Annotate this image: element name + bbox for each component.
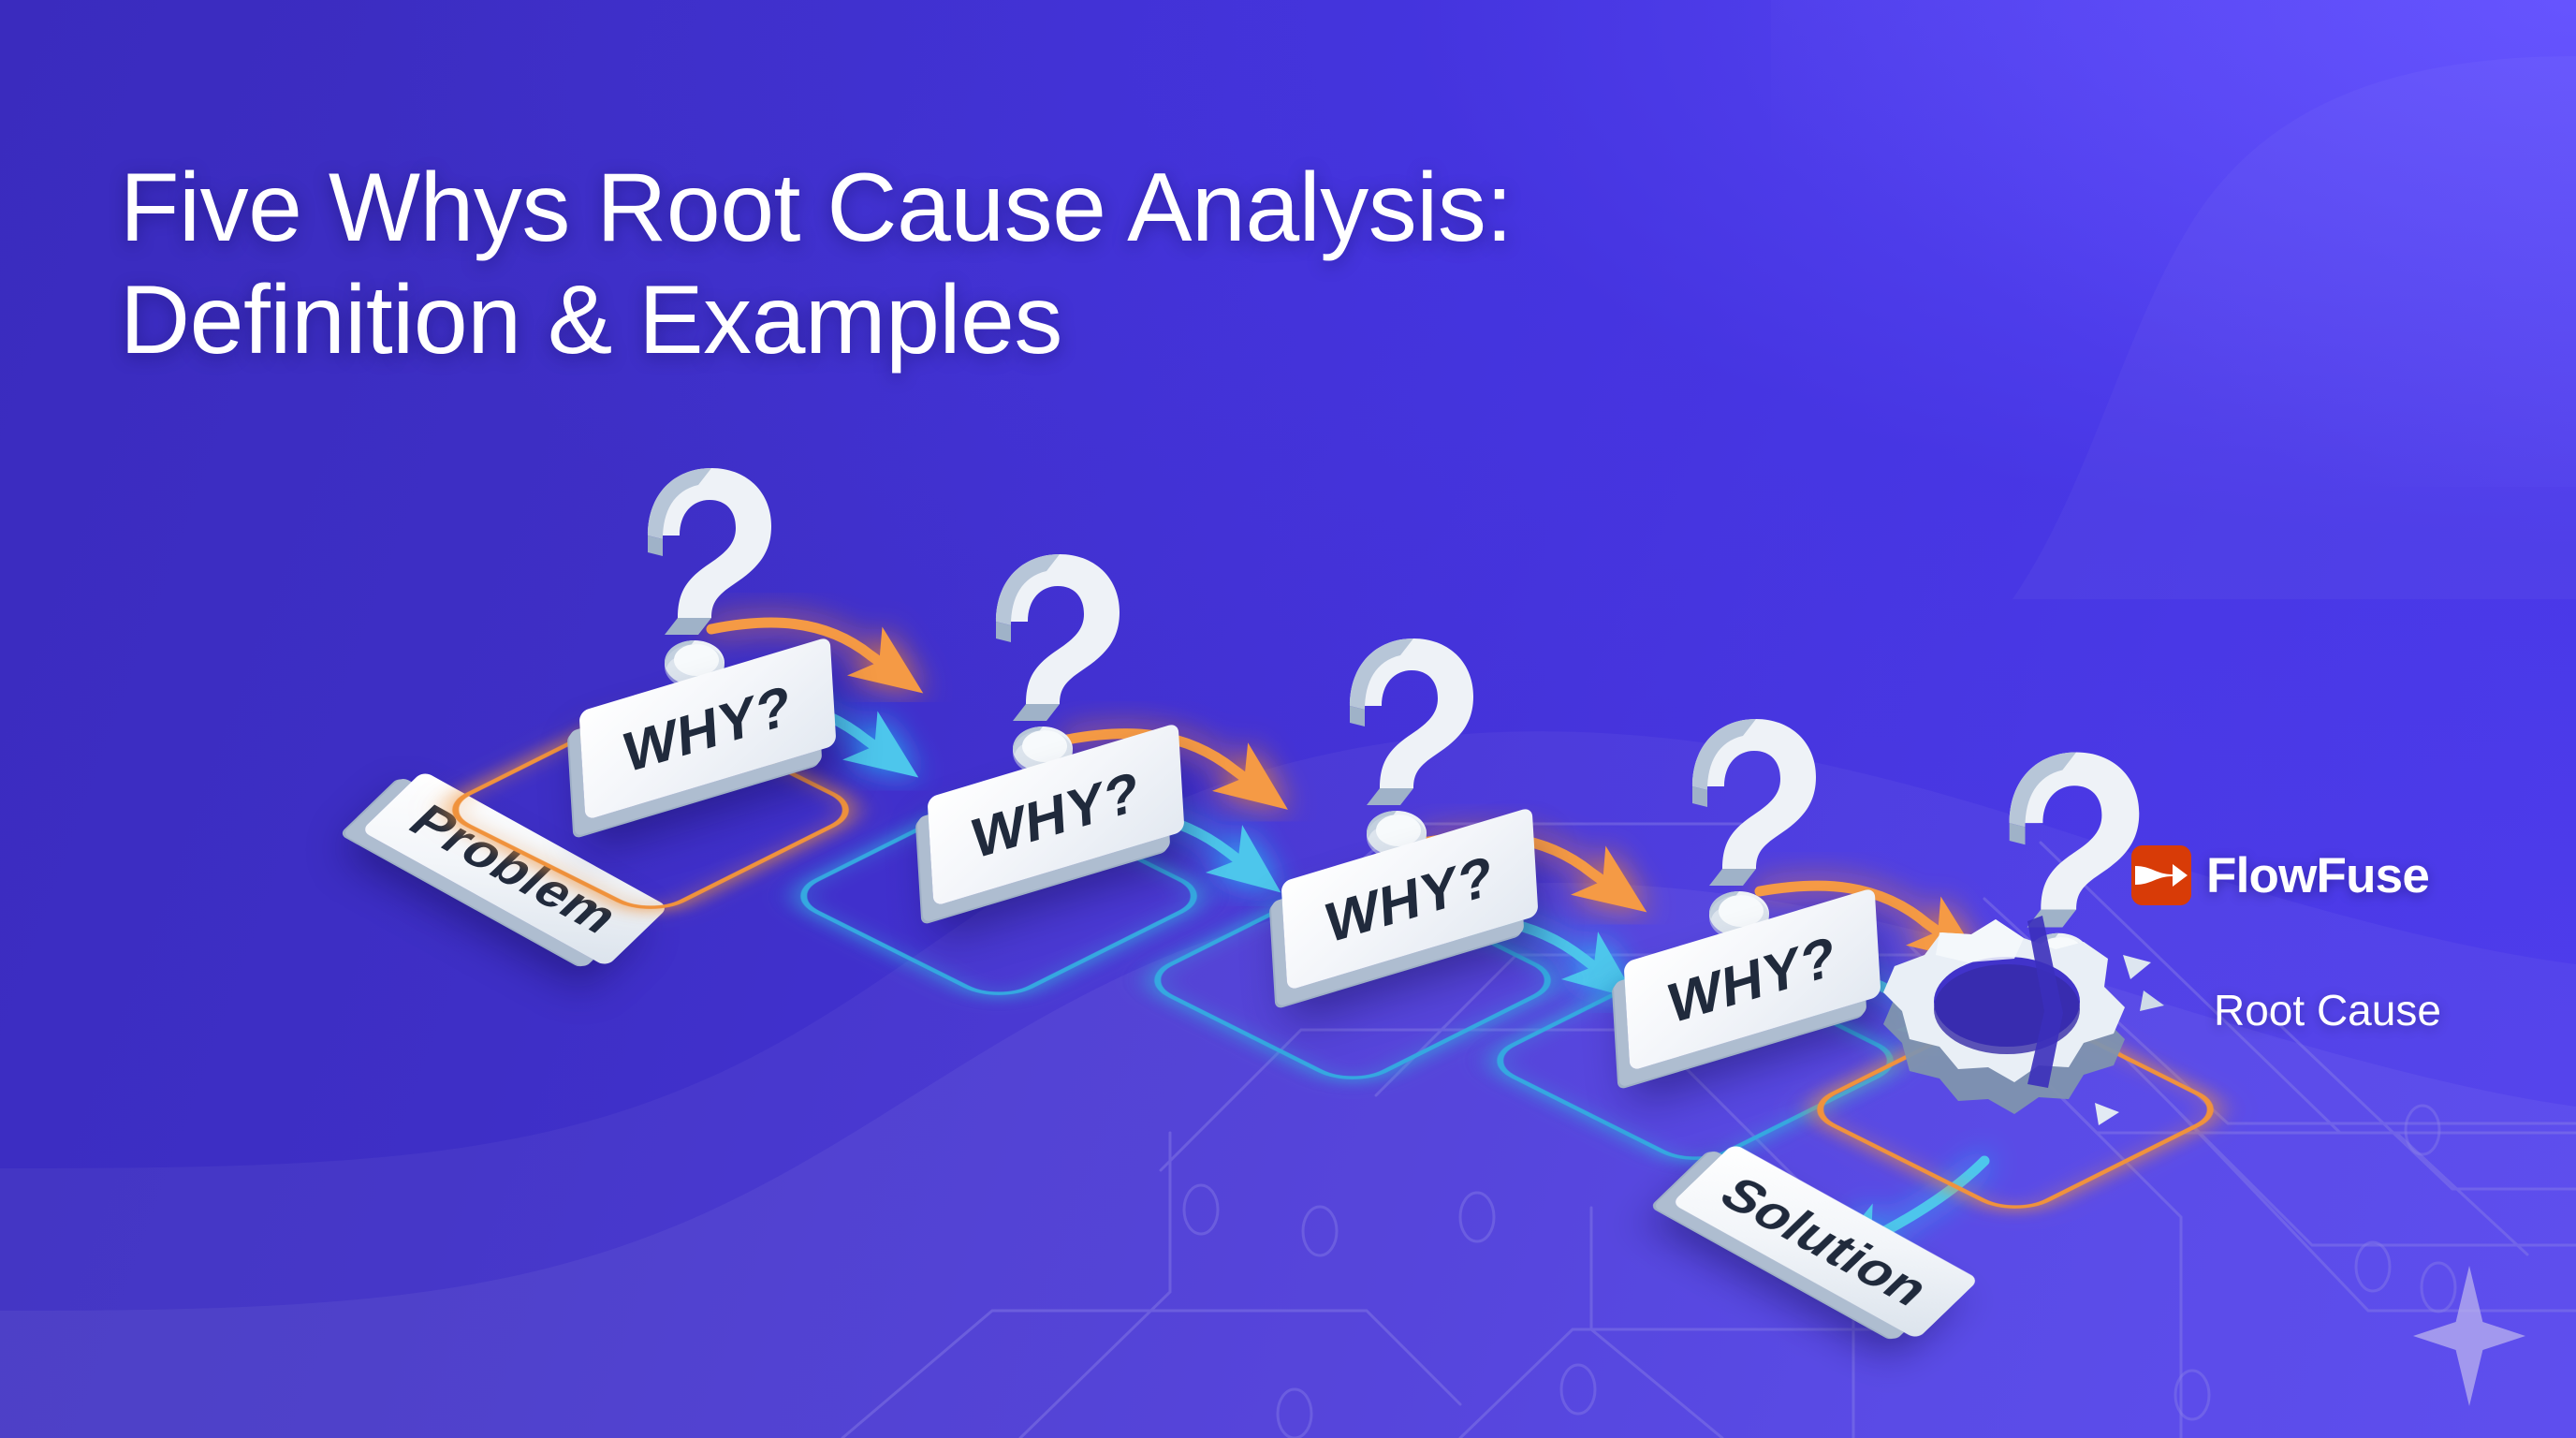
brand-logo[interactable]: FlowFuse bbox=[2131, 845, 2429, 905]
question-mark-3d-icon bbox=[1299, 624, 1486, 858]
broken-gear-icon bbox=[1827, 901, 2239, 1181]
question-mark-3d-icon bbox=[945, 539, 1133, 773]
root-cause-label: Root Cause bbox=[2214, 985, 2441, 1035]
brand-name: FlowFuse bbox=[2206, 847, 2429, 904]
page-title: Five Whys Root Cause Analysis: Definitio… bbox=[120, 152, 1513, 377]
hero-banner: Five Whys Root Cause Analysis: Definitio… bbox=[0, 0, 2576, 1438]
flowfuse-logo-icon bbox=[2131, 845, 2191, 905]
question-mark-3d-icon bbox=[1642, 704, 1829, 938]
solution-label: Solution bbox=[1707, 1167, 1944, 1315]
corner-glow-shape bbox=[1771, 0, 2576, 487]
question-mark-3d-icon bbox=[597, 453, 784, 687]
sparkle-icon bbox=[2413, 1266, 2525, 1406]
